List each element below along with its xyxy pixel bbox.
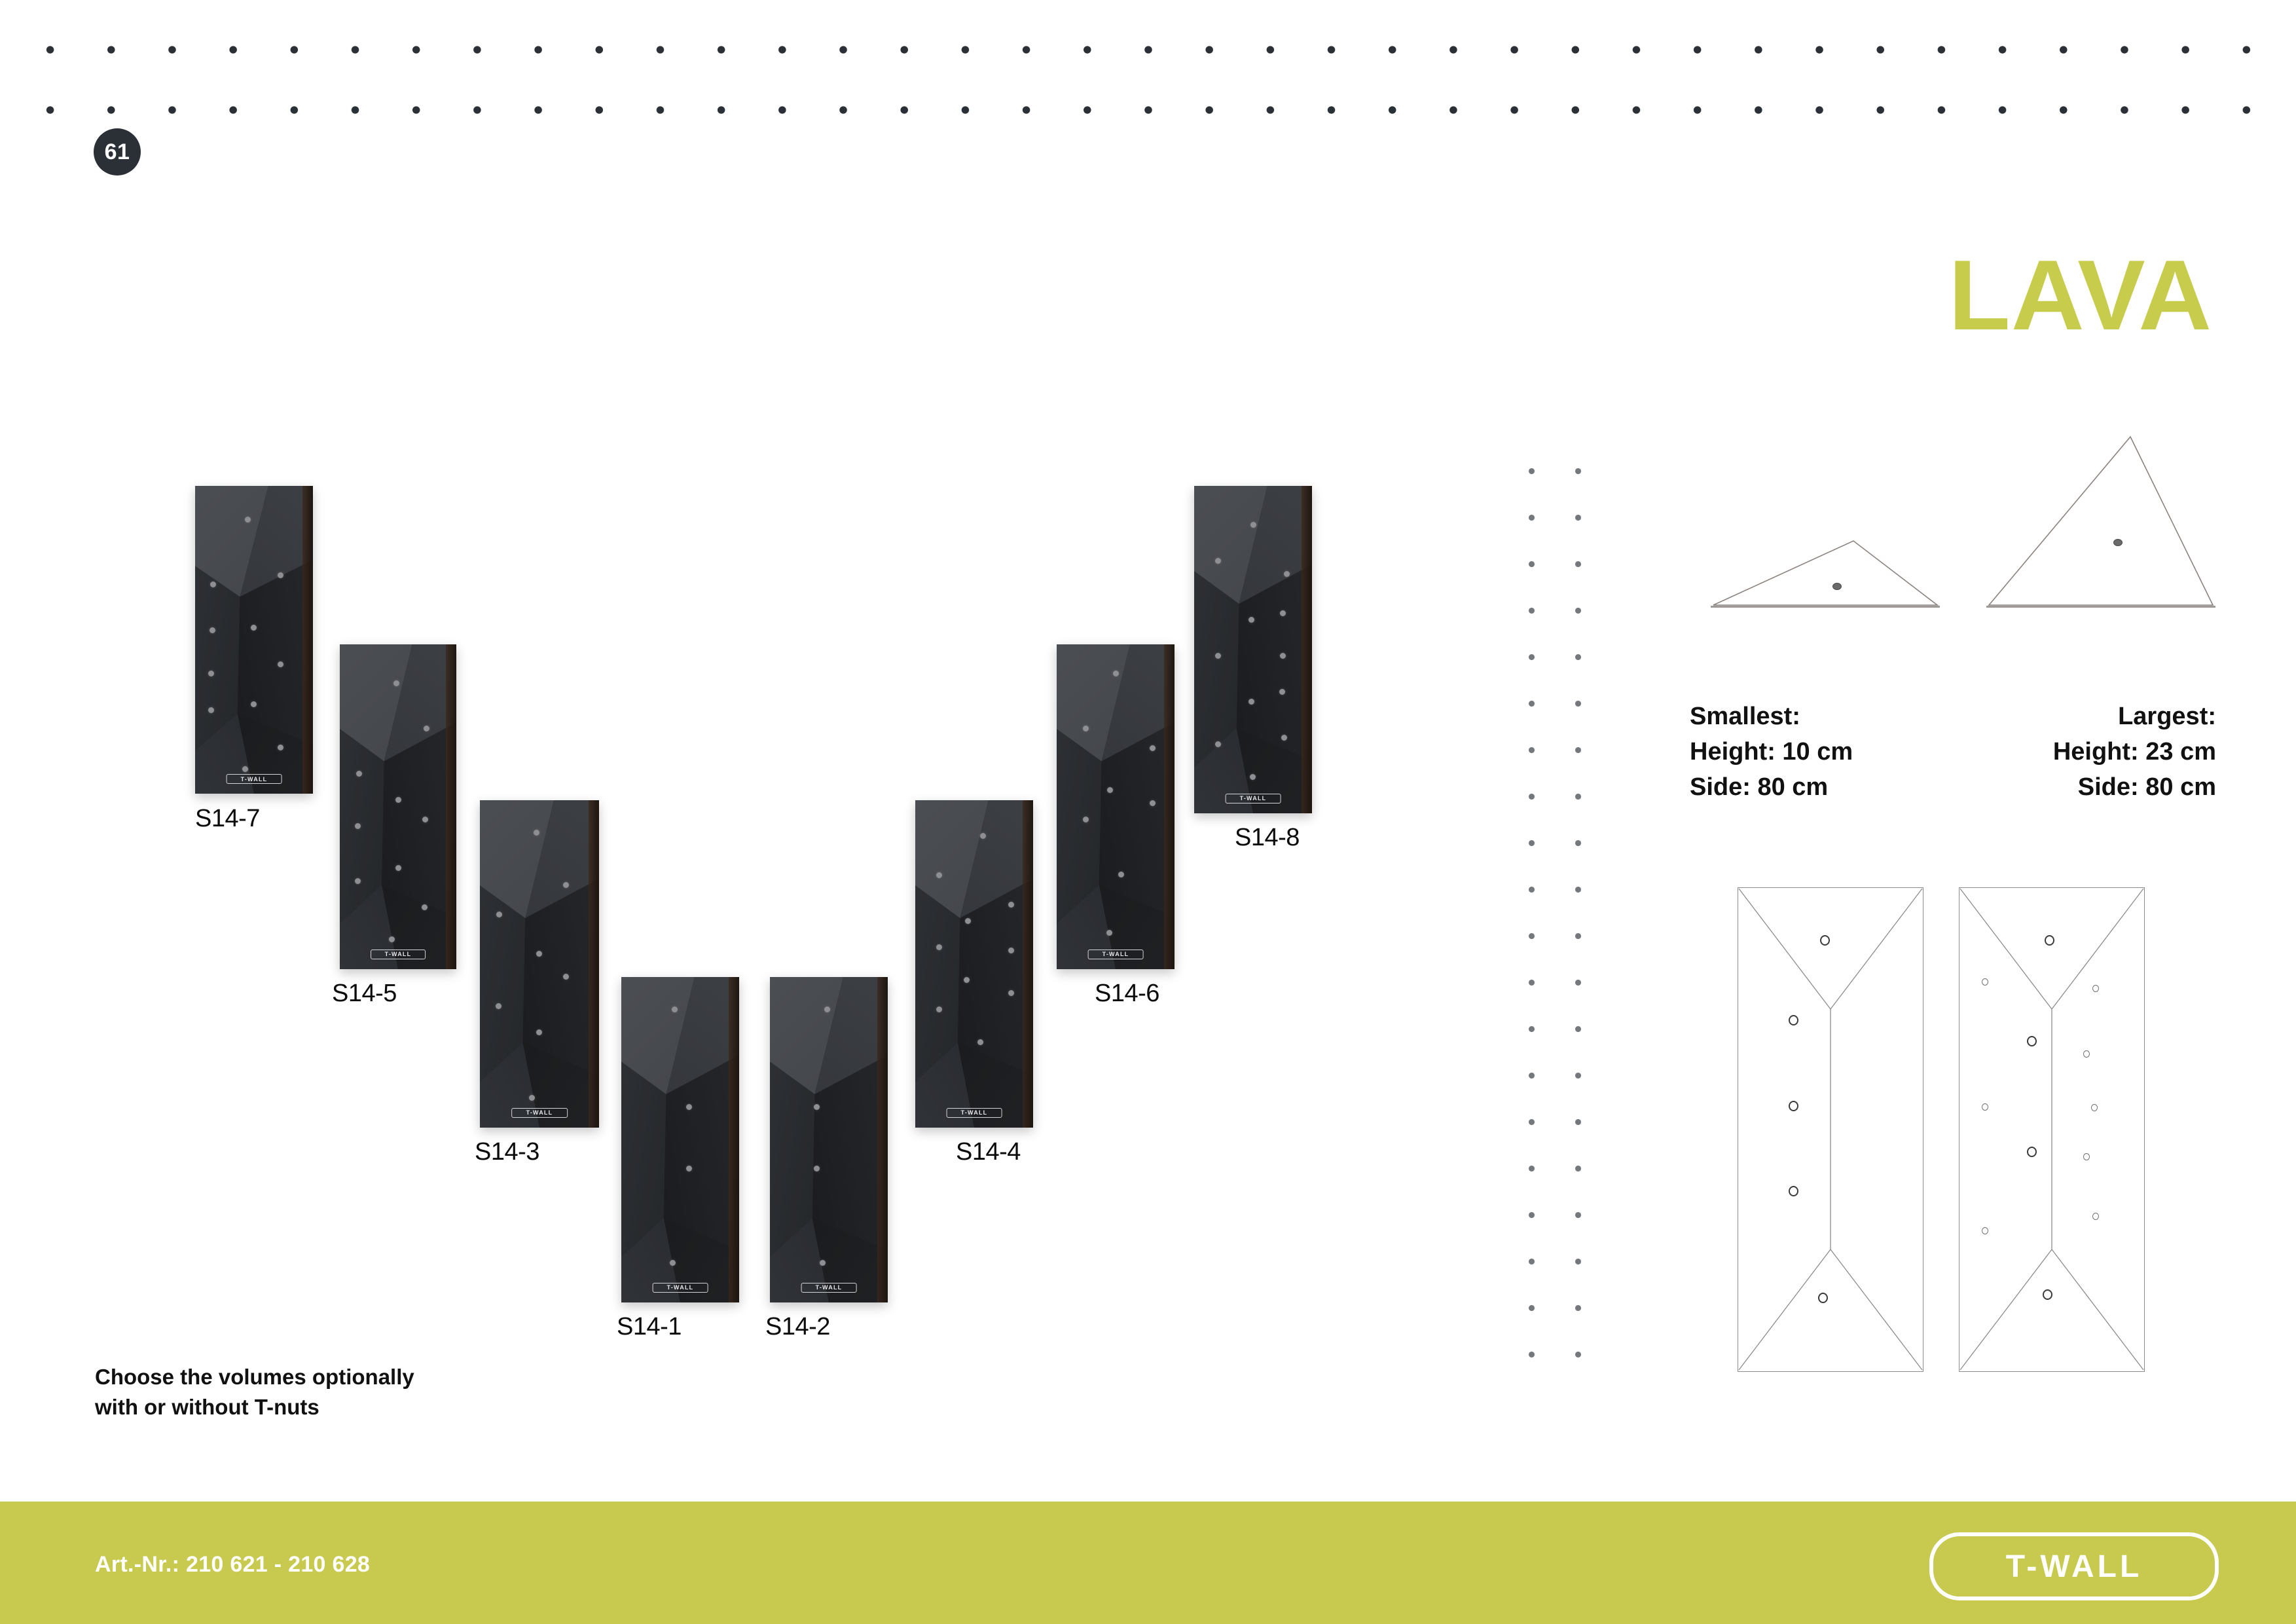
product-label: S14-6 (1095, 980, 1159, 1008)
product-label: S14-4 (956, 1138, 1021, 1166)
twall-logo: T-WALL (1929, 1532, 2219, 1600)
tnut-hole-marker (1789, 1186, 1798, 1196)
product-item-s14-1[interactable]: T-WALL S14-1 (621, 977, 739, 1302)
product-label: S14-7 (195, 805, 260, 833)
tnut-hole (964, 977, 970, 983)
tnut-hole (980, 833, 986, 839)
tnut-hole (355, 823, 361, 829)
panel-fold-lines (1738, 888, 1923, 1371)
tnut-hole-marker (1982, 978, 1988, 986)
tnut-hole (536, 1029, 542, 1035)
tnut-hole (245, 517, 251, 523)
brand-plate: T-WALL (801, 1283, 857, 1293)
largest-spec-side: Side: 80 cm (2053, 770, 2216, 805)
tnut-hole (534, 830, 539, 836)
tnut-hole (278, 661, 283, 667)
volume-photo: T-WALL (480, 800, 599, 1128)
product-item-s14-2[interactable]: T-WALL S14-2 (770, 977, 888, 1302)
tnut-hole (1248, 617, 1254, 623)
volume-photo: T-WALL (1194, 486, 1312, 813)
tnut-hole (1118, 872, 1124, 877)
volume-side-face (589, 800, 599, 1128)
volume-side-face (446, 644, 456, 969)
brand-plate: T-WALL (511, 1108, 568, 1118)
panel-drawing-right (1959, 887, 2145, 1372)
volume-side-face (729, 977, 739, 1302)
tnut-hole (1083, 817, 1089, 822)
product-item-s14-8[interactable]: T-WALL S14-8 (1194, 486, 1312, 813)
tnut-hole-marker (2091, 1104, 2098, 1111)
brand-plate: T-WALL (371, 950, 426, 959)
tnut-hole (242, 766, 248, 772)
triangle-outline-large (1986, 434, 2215, 608)
brand-plate: T-WALL (653, 1283, 708, 1293)
volume-side-face (877, 977, 888, 1302)
product-item-s14-5[interactable]: T-WALL S14-5 (340, 644, 456, 969)
tnut-hole-marker (2083, 1153, 2090, 1160)
product-item-s14-6[interactable]: T-WALL S14-6 (1057, 644, 1175, 969)
tnut-hole-marker (1982, 1103, 1988, 1111)
tnut-hole (251, 701, 257, 707)
top-dot-grid (0, 0, 2296, 164)
volume-side-face (1023, 800, 1033, 1128)
tnut-hole-marker (2045, 935, 2054, 946)
tnut-hole-marker (2043, 1289, 2052, 1300)
tnut-hole-marker (2092, 985, 2099, 992)
smallest-spec-title: Smallest: (1690, 699, 1853, 735)
product-label: S14-8 (1235, 824, 1300, 852)
tnut-hole-marker (1832, 583, 1842, 590)
volume-photo: T-WALL (340, 644, 456, 969)
tnut-hole-marker (2092, 1213, 2099, 1220)
largest-spec-height: Height: 23 cm (2053, 735, 2216, 770)
volume-photo: T-WALL (621, 977, 739, 1302)
tnut-hole-marker (1982, 1227, 1988, 1234)
twall-logo-label: T-WALL (2006, 1549, 2143, 1585)
smallest-spec-side: Side: 80 cm (1690, 770, 1853, 805)
brand-plate: T-WALL (1226, 794, 1281, 803)
volume-photo: T-WALL (1057, 644, 1175, 969)
tnut-hole (278, 745, 283, 750)
side-dot-grid (1506, 445, 1611, 1375)
tnut-hole (422, 904, 428, 910)
tnut-hole (1250, 774, 1256, 780)
note-text: Choose the volumes optionally with or wi… (95, 1362, 435, 1422)
tnut-hole (820, 1260, 826, 1266)
product-label: S14-2 (765, 1313, 830, 1341)
volume-photo: T-WALL (195, 486, 313, 794)
tnut-hole (1248, 699, 1254, 705)
article-number: Art.-Nr.: 210 621 - 210 628 (95, 1552, 370, 1578)
tnut-hole (251, 625, 257, 631)
tnut-hole (814, 1166, 820, 1172)
brand-plate: T-WALL (1088, 950, 1144, 959)
product-label: S14-3 (475, 1138, 539, 1166)
volume-side-face (1302, 486, 1312, 813)
tnut-hole (814, 1104, 820, 1110)
volume-side-face (302, 486, 313, 794)
tnut-hole (210, 627, 215, 633)
tnut-hole (496, 1003, 501, 1009)
tnut-hole (1083, 726, 1089, 731)
smallest-spec-height: Height: 10 cm (1690, 735, 1853, 770)
volume-photo: T-WALL (915, 800, 1033, 1128)
tnut-hole-marker (1820, 935, 1830, 946)
product-item-s14-7[interactable]: T-WALL S14-7 (195, 486, 313, 794)
volume-side-face (1164, 644, 1175, 969)
tnut-hole (686, 1104, 692, 1110)
tnut-hole (529, 1095, 535, 1101)
largest-triangle-drawing (1986, 434, 2215, 608)
tnut-hole-marker (2027, 1147, 2037, 1157)
largest-spec-title: Largest: (2053, 699, 2216, 735)
product-label: S14-5 (332, 980, 397, 1008)
triangle-baseline (1711, 606, 1940, 608)
largest-spec-block: Largest: Height: 23 cm Side: 80 cm (2053, 699, 2216, 805)
tnut-hole (278, 572, 283, 578)
tnut-hole-marker (1789, 1015, 1798, 1025)
product-label: S14-1 (617, 1313, 682, 1341)
page-number-label: 61 (105, 139, 130, 165)
tnut-hole (208, 671, 214, 676)
tnut-hole-marker (2113, 539, 2123, 546)
triangle-outline-small (1711, 538, 1940, 608)
smallest-triangle-drawing (1711, 538, 1940, 608)
tnut-hole (393, 680, 399, 686)
page-number-badge: 61 (94, 128, 141, 175)
smallest-spec-block: Smallest: Height: 10 cm Side: 80 cm (1690, 699, 1853, 805)
tnut-hole (1279, 689, 1285, 695)
triangle-baseline (1986, 606, 2215, 608)
page-title: LAVA (1948, 246, 2212, 345)
volume-photo: T-WALL (770, 977, 888, 1302)
tnut-hole-marker (1818, 1293, 1828, 1303)
tnut-hole (536, 951, 542, 957)
brand-plate: T-WALL (227, 774, 282, 784)
tnut-hole (1284, 571, 1290, 577)
product-item-s14-3[interactable]: T-WALL S14-3 (480, 800, 599, 1128)
tnut-hole (824, 1006, 830, 1012)
panel-fold-lines (1959, 888, 2144, 1371)
brand-plate: T-WALL (947, 1108, 1002, 1118)
panel-drawing-left (1738, 887, 1923, 1372)
tnut-hole (1150, 745, 1156, 751)
tnut-hole-marker (2027, 1036, 2037, 1046)
tnut-hole-marker (2083, 1050, 2090, 1058)
tnut-hole (965, 918, 971, 924)
product-item-s14-4[interactable]: T-WALL S14-4 (915, 800, 1033, 1128)
tnut-hole-marker (1789, 1101, 1798, 1111)
